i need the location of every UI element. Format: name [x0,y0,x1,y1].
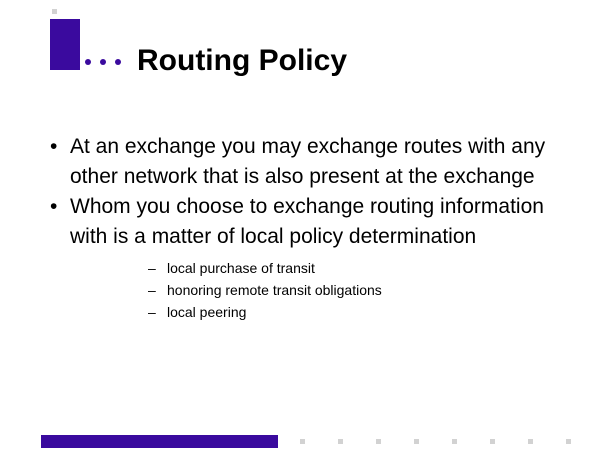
list-item: • Whom you choose to exchange routing in… [0,192,600,323]
footer-tick-row [300,439,595,447]
footer-tick-icon [528,439,533,444]
slide-title-area: Routing Policy [0,0,600,100]
bullet-marker-icon: • [50,192,62,222]
list-item: • At an exchange you may exchange routes… [0,132,600,192]
bullet-marker-icon: • [50,132,62,162]
sub-bullet-marker-icon: – [148,279,156,301]
footer-tick-icon [566,439,571,444]
slide-body: • At an exchange you may exchange routes… [0,132,600,323]
bullet-list: • At an exchange you may exchange routes… [0,132,600,323]
footer-tick-icon [490,439,495,444]
title-corner-tick-icon [52,9,57,14]
sub-list-item: – local peering [70,301,600,323]
footer-tick-icon [338,439,343,444]
bullet-text: Whom you choose to exchange routing info… [70,192,565,252]
footer-tick-icon [300,439,305,444]
footer-tick-icon [376,439,381,444]
sub-bullet-list: – local purchase of transit – honoring r… [70,257,600,323]
sub-bullet-marker-icon: – [148,257,156,279]
sub-bullet-marker-icon: – [148,301,156,323]
leader-dot-3 [115,59,121,65]
slide-canvas: Routing Policy • At an exchange you may … [0,0,600,450]
sub-list-item: – honoring remote transit obligations [70,279,600,301]
sub-bullet-text: local purchase of transit [167,260,315,276]
title-leader-dots-icon [85,59,121,65]
sub-bullet-text: local peering [167,304,246,320]
leader-dot-1 [85,59,91,65]
footer-tick-icon [452,439,457,444]
page-title: Routing Policy [137,44,347,78]
footer-tick-icon [414,439,419,444]
sub-bullet-text: honoring remote transit obligations [167,282,382,298]
title-accent-block-icon [50,19,80,70]
footer-accent-bar [41,435,278,448]
sub-list-item: – local purchase of transit [70,257,600,279]
bullet-text: At an exchange you may exchange routes w… [70,132,565,192]
leader-dot-2 [100,59,106,65]
